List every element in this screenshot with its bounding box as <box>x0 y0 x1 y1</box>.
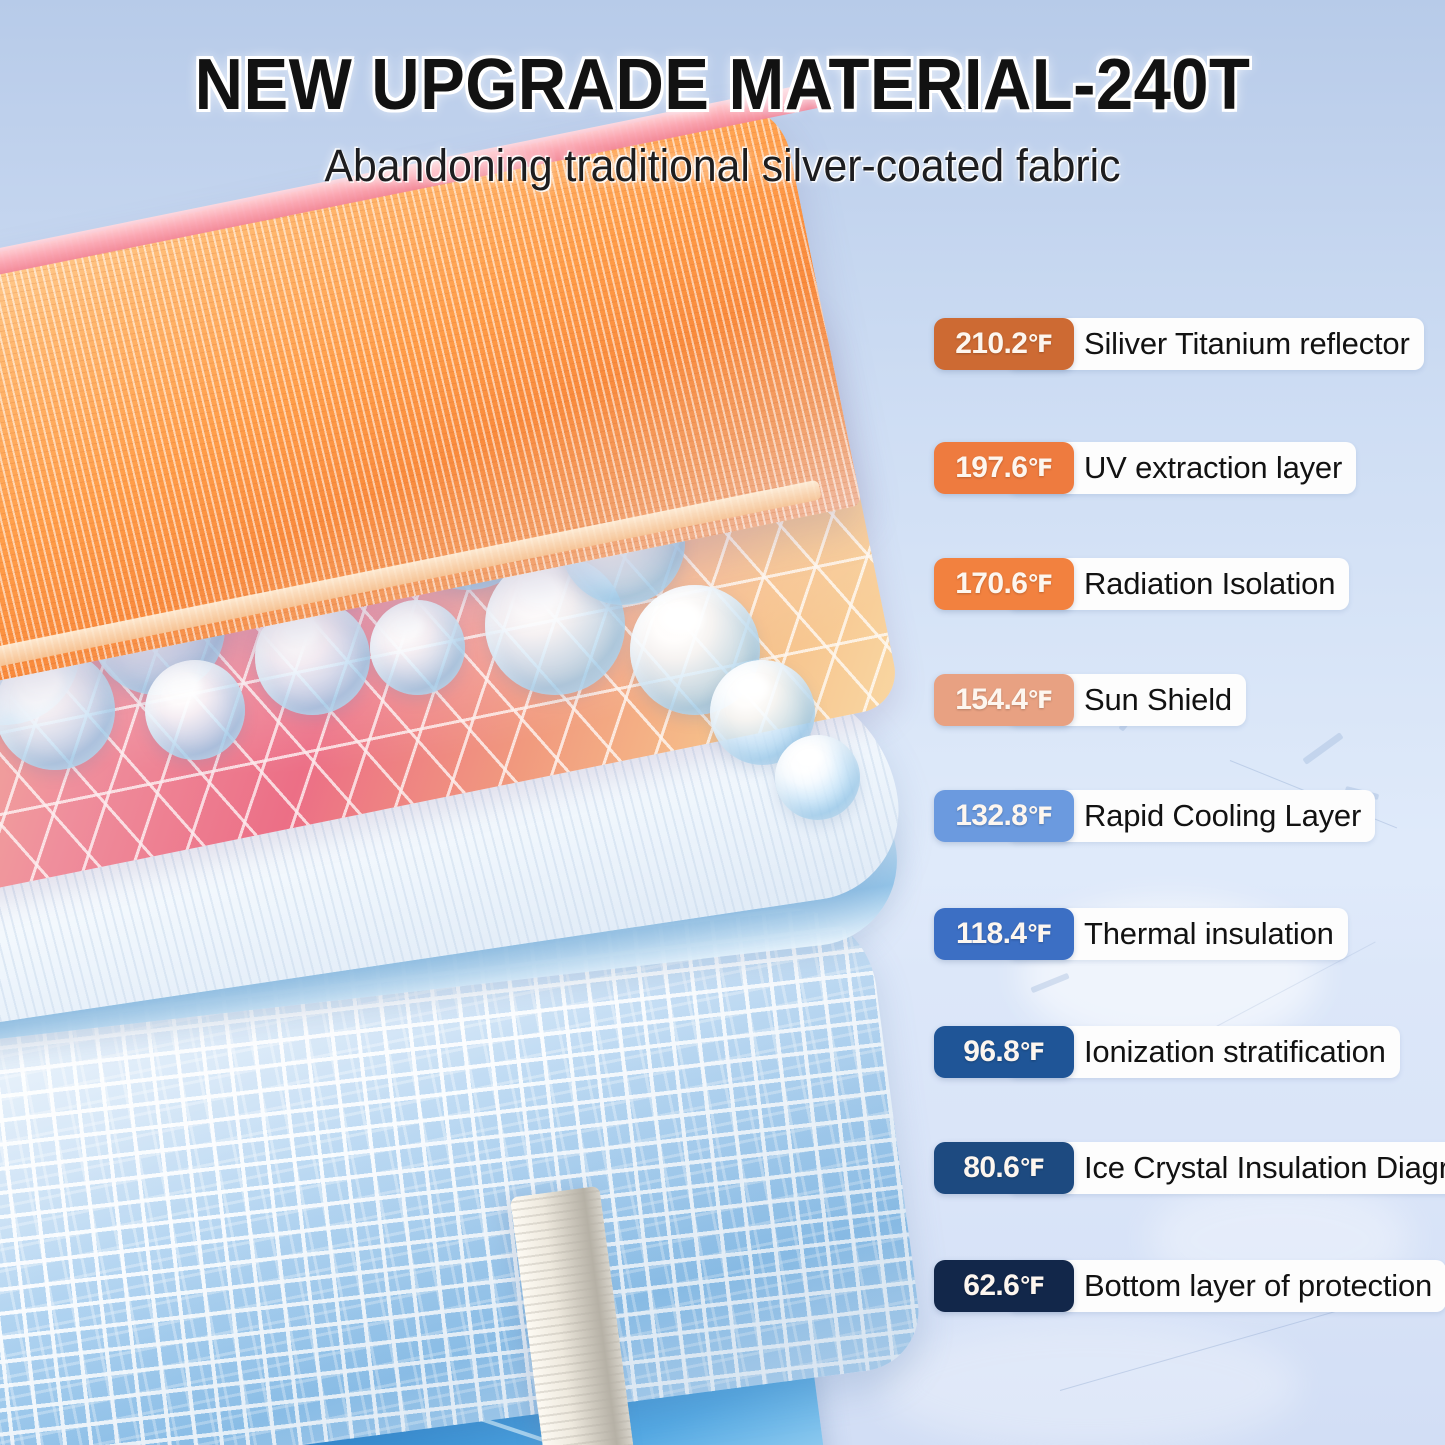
legend-row: 132.8℉ Rapid Cooling Layer <box>934 790 1375 842</box>
temperature-badge: 96.8℉ <box>934 1026 1074 1078</box>
temperature-badge: 154.4℉ <box>934 674 1074 726</box>
temperature-value: 80.6 <box>963 1151 1019 1185</box>
legend-row: 170.6℉ Radiation Isolation <box>934 558 1349 610</box>
legend-label-text: Bottom layer of protection <box>1084 1268 1432 1304</box>
legend-label-text: UV extraction layer <box>1084 450 1342 486</box>
temperature-value: 197.6 <box>955 451 1027 485</box>
temperature-unit: ℉ <box>1026 920 1051 949</box>
temperature-unit: ℉ <box>1019 1154 1044 1183</box>
legend-row: 96.8℉ Ionization stratification <box>934 1026 1400 1078</box>
temperature-badge: 62.6℉ <box>934 1260 1074 1312</box>
legend-row: 80.6℉ Ice Crystal Insulation Diagram <box>934 1142 1445 1194</box>
legend-row: 154.4℉ Sun Shield <box>934 674 1246 726</box>
temperature-unit: ℉ <box>1027 802 1052 831</box>
legend-label-text: Ionization stratification <box>1084 1034 1386 1070</box>
temperature-unit: ℉ <box>1027 454 1052 483</box>
temperature-badge: 118.4℉ <box>934 908 1074 960</box>
pearl-sphere <box>145 660 245 760</box>
legend-row: 197.6℉ UV extraction layer <box>934 442 1356 494</box>
legend-label-text: Thermal insulation <box>1084 916 1334 952</box>
temperature-value: 96.8 <box>963 1035 1019 1069</box>
legend-label-text: Siliver Titanium reflector <box>1084 326 1410 362</box>
infographic-stage: NEW UPGRADE MATERIAL-240T Abandoning tra… <box>0 0 1445 1445</box>
page-subtitle: Abandoning traditional silver-coated fab… <box>36 140 1409 192</box>
temperature-value: 118.4 <box>956 917 1026 951</box>
temperature-unit: ℉ <box>1019 1038 1044 1067</box>
temperature-badge: 132.8℉ <box>934 790 1074 842</box>
pearl-sphere <box>370 600 465 695</box>
temperature-unit: ℉ <box>1027 570 1052 599</box>
temperature-value: 132.8 <box>955 799 1027 833</box>
legend-row: 210.2℉ Siliver Titanium reflector <box>934 318 1424 370</box>
temperature-badge: 197.6℉ <box>934 442 1074 494</box>
pearl-sphere <box>775 735 860 820</box>
page-title: NEW UPGRADE MATERIAL-240T <box>51 44 1395 126</box>
temperature-unit: ℉ <box>1019 1272 1044 1301</box>
temperature-value: 170.6 <box>955 567 1027 601</box>
temperature-value: 210.2 <box>955 327 1027 361</box>
temperature-badge: 210.2℉ <box>934 318 1074 370</box>
product-cutaway-image <box>0 180 950 1445</box>
temperature-badge: 80.6℉ <box>934 1142 1074 1194</box>
temperature-unit: ℉ <box>1027 686 1052 715</box>
legend-label-text: Ice Crystal Insulation Diagram <box>1084 1150 1445 1186</box>
temperature-badge: 170.6℉ <box>934 558 1074 610</box>
temperature-unit: ℉ <box>1027 330 1052 359</box>
temperature-value: 154.4 <box>955 683 1027 717</box>
legend-row: 62.6℉ Bottom layer of protection <box>934 1260 1445 1312</box>
legend-label-text: Radiation Isolation <box>1084 566 1335 602</box>
legend-label-text: Rapid Cooling Layer <box>1084 798 1361 834</box>
legend-label-text: Sun Shield <box>1084 682 1232 718</box>
temperature-value: 62.6 <box>963 1269 1019 1303</box>
legend-row: 118.4℉ Thermal insulation <box>934 908 1348 960</box>
